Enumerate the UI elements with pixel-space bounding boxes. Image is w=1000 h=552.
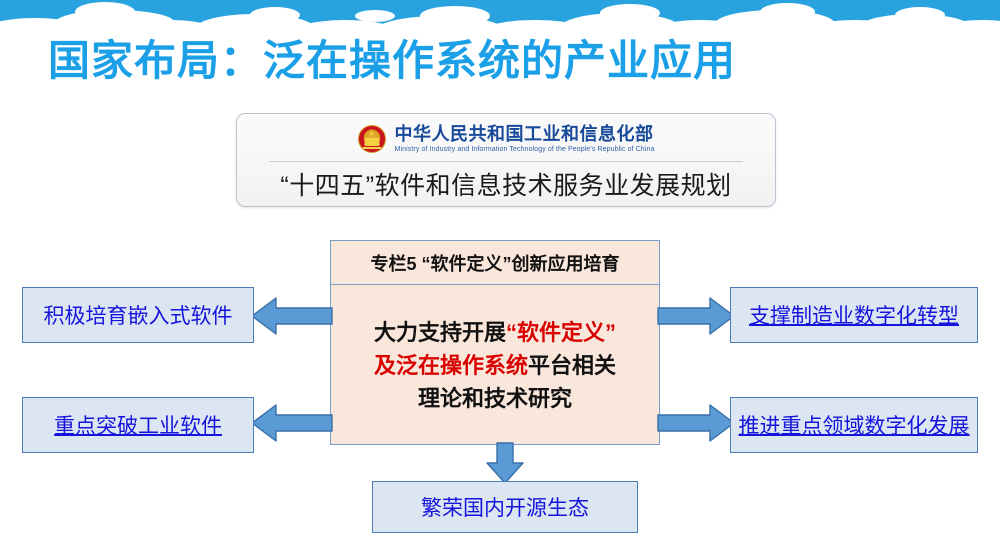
branch-box-right-top[interactable]: 支撑制造业数字化转型 — [730, 287, 978, 343]
center-text-plain: 大力支持开展 — [374, 320, 506, 345]
center-text-plain: 平台相关 — [528, 353, 616, 378]
center-body-line: 大力支持开展“软件定义” — [374, 316, 616, 349]
center-text-highlight: “软件定义” — [506, 320, 616, 345]
emblem-base-shape — [362, 147, 381, 150]
ministry-header: ★ 中华人民共和国工业和信息化部 Ministry of Industry an… — [237, 121, 775, 157]
arrow-down-icon — [484, 441, 526, 485]
center-box-body: 大力支持开展“软件定义” 及泛在操作系统平台相关 理论和技术研究 — [331, 285, 659, 446]
center-text-plain: 理论和技术研究 — [418, 386, 572, 411]
branch-box-right-bottom[interactable]: 推进重点领域数字化发展 — [730, 397, 978, 453]
center-body-line: 理论和技术研究 — [418, 382, 572, 415]
arrow-right-bottom-icon — [656, 403, 736, 443]
arrow-left-bottom-icon — [250, 403, 334, 443]
arrow-right-top-icon — [656, 296, 736, 336]
ministry-divider — [269, 161, 743, 162]
emblem-star-glyph: ★ — [368, 130, 375, 138]
branch-label: 支撑制造业数字化转型 — [749, 300, 959, 330]
branch-label: 繁荣国内开源生态 — [421, 492, 589, 522]
branch-box-left-bottom[interactable]: 重点突破工业软件 — [22, 397, 254, 453]
center-highlight-box: 专栏5 “软件定义”创新应用培育 大力支持开展“软件定义” 及泛在操作系统平台相… — [330, 240, 660, 445]
branch-label: 积极培育嵌入式软件 — [44, 300, 233, 330]
branch-label: 重点突破工业软件 — [54, 410, 222, 440]
page-title: 国家布局：泛在操作系统的产业应用 — [48, 33, 948, 89]
center-body-line: 及泛在操作系统平台相关 — [374, 349, 616, 382]
ministry-name-block: 中华人民共和国工业和信息化部 Ministry of Industry and … — [395, 124, 655, 154]
header-cloud-band — [0, 0, 1000, 34]
slide-canvas: 国家布局：泛在操作系统的产业应用 ★ 中华人民共和国工业和信息化部 Minist… — [0, 0, 1000, 552]
ministry-name-cn: 中华人民共和国工业和信息化部 — [395, 124, 655, 144]
national-emblem-icon: ★ — [358, 125, 386, 153]
ministry-name-en: Ministry of Industry and Information Tec… — [395, 145, 655, 154]
branch-box-bottom[interactable]: 繁荣国内开源生态 — [372, 481, 638, 533]
center-box-header: 专栏5 “软件定义”创新应用培育 — [331, 241, 659, 285]
ministry-plan-panel: ★ 中华人民共和国工业和信息化部 Ministry of Industry an… — [236, 113, 776, 207]
branch-box-left-top[interactable]: 积极培育嵌入式软件 — [22, 287, 254, 343]
emblem-gate-shape — [364, 138, 379, 146]
arrow-left-top-icon — [250, 296, 334, 336]
center-text-highlight: 及泛在操作系统 — [374, 353, 528, 378]
branch-label: 推进重点领域数字化发展 — [739, 410, 970, 440]
plan-title: “十四五”软件和信息技术服务业发展规划 — [237, 164, 775, 204]
